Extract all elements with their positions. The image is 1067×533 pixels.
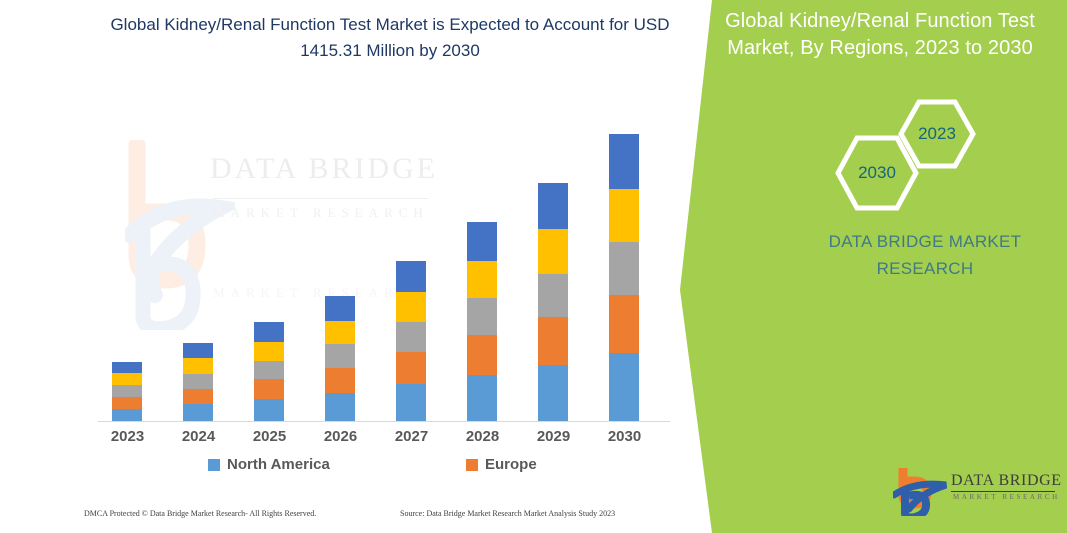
bar-segment[interactable] (254, 342, 284, 361)
bar-segment[interactable] (112, 409, 142, 421)
x-axis-label-2024: 2024 (163, 428, 234, 445)
bar-segment[interactable] (609, 189, 639, 242)
bar-segment[interactable] (254, 399, 284, 421)
bar-group-2028[interactable] (467, 222, 497, 421)
bar-segment[interactable] (325, 393, 355, 421)
x-axis-label-2028: 2028 (447, 428, 518, 445)
hexagon-label-2023: 2023 (897, 98, 977, 170)
bar-segment[interactable] (467, 298, 497, 335)
bar-segment[interactable] (538, 229, 568, 273)
bar-segment[interactable] (467, 375, 497, 421)
legend-swatch-icon (466, 459, 478, 471)
bar-group-2024[interactable] (183, 343, 213, 421)
legend-swatch-icon (208, 459, 220, 471)
panel-brand-line: DATA BRIDGE MARKET RESEARCH (790, 228, 1060, 282)
hexagon-badge-2023: 2023 (897, 98, 977, 170)
bar-segment[interactable] (254, 361, 284, 379)
bar-segment[interactable] (325, 344, 355, 368)
legend-label: North America (227, 456, 330, 473)
x-axis-label-2027: 2027 (376, 428, 447, 445)
bar-segment[interactable] (396, 384, 426, 421)
footer-source: Source: Data Bridge Market Research Mark… (400, 509, 615, 518)
bar-segment[interactable] (467, 261, 497, 299)
bar-segment[interactable] (609, 353, 639, 421)
footer-copyright: DMCA Protected © Data Bridge Market Rese… (84, 509, 316, 518)
stacked-bar-chart (98, 60, 670, 422)
bar-segment[interactable] (183, 374, 213, 389)
panel-title: Global Kidney/Renal Function Test Market… (700, 8, 1060, 62)
logo-subwordmark: MARKET RESEARCH (953, 493, 1060, 501)
bar-segment[interactable] (538, 183, 568, 229)
bar-segment[interactable] (325, 368, 355, 393)
bar-segment[interactable] (538, 365, 568, 421)
bar-segment[interactable] (112, 397, 142, 409)
x-axis-label-2023: 2023 (92, 428, 163, 445)
bar-segment[interactable] (112, 373, 142, 385)
bar-segment[interactable] (396, 322, 426, 352)
bar-group-2025[interactable] (254, 322, 284, 421)
bar-segment[interactable] (112, 385, 142, 396)
bar-segment[interactable] (325, 321, 355, 345)
logo-wordmark: DATA BRIDGE (951, 472, 1062, 490)
bar-segment[interactable] (325, 296, 355, 320)
bar-segment[interactable] (254, 322, 284, 341)
legend-item-north-america[interactable]: North America (208, 456, 330, 473)
x-axis-label-2025: 2025 (234, 428, 305, 445)
bar-segment[interactable] (609, 134, 639, 189)
bar-segment[interactable] (112, 362, 142, 373)
bar-segment[interactable] (396, 352, 426, 384)
bar-segment[interactable] (538, 317, 568, 365)
bar-segment[interactable] (183, 343, 213, 359)
bar-segment[interactable] (538, 274, 568, 318)
x-axis-labels: 20232024202520262027202820292030 (98, 428, 670, 452)
bar-segment[interactable] (396, 261, 426, 292)
bar-segment[interactable] (467, 335, 497, 375)
bar-group-2029[interactable] (538, 183, 568, 421)
data-bridge-logo-icon (893, 468, 949, 516)
bar-group-2023[interactable] (112, 362, 142, 421)
x-axis-label-2030: 2030 (589, 428, 660, 445)
bar-segment[interactable] (609, 242, 639, 294)
x-axis-label-2029: 2029 (518, 428, 589, 445)
legend-label: Europe (485, 456, 537, 473)
chart-legend: North AmericaEurope (98, 456, 670, 480)
bar-group-2027[interactable] (396, 261, 426, 421)
bar-segment[interactable] (254, 379, 284, 399)
infographic-page: Global Kidney/Renal Function Test Market… (0, 0, 1067, 533)
bar-group-2026[interactable] (325, 296, 355, 421)
page-title: Global Kidney/Renal Function Test Market… (90, 12, 690, 64)
bar-segment[interactable] (609, 295, 639, 353)
bar-segment[interactable] (183, 404, 213, 421)
bar-group-2030[interactable] (609, 134, 639, 421)
legend-item-europe[interactable]: Europe (466, 456, 537, 473)
x-axis-line (98, 421, 670, 422)
bar-segment[interactable] (183, 358, 213, 374)
logo-divider (951, 491, 1055, 492)
bar-segment[interactable] (467, 222, 497, 260)
bar-segment[interactable] (183, 389, 213, 405)
bar-segment[interactable] (396, 292, 426, 323)
brand-logo: DATA BRIDGE MARKET RESEARCH (893, 468, 1063, 516)
x-axis-label-2026: 2026 (305, 428, 376, 445)
